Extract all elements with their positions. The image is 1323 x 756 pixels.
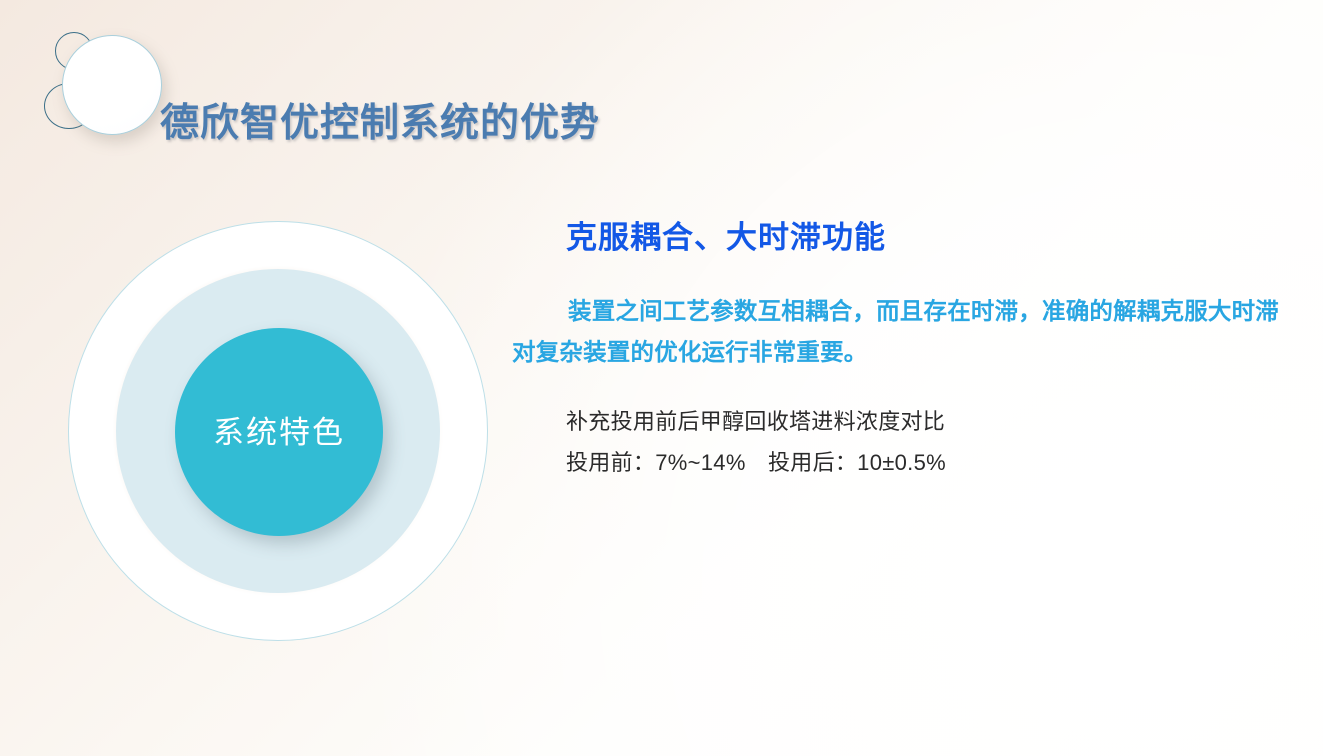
content-note: 补充投用前后甲醇回收塔进料浓度对比 投用前：7%~14% 投用后：10±0.5% [566, 402, 1302, 484]
content-block: 克服耦合、大时滞功能 装置之间工艺参数互相耦合，而且存在时滞，准确的解耦克服大时… [512, 218, 1302, 484]
feature-circle-label: 系统特色 [213, 417, 345, 448]
note-line-values: 投用前：7%~14% 投用后：10±0.5% [566, 443, 1302, 484]
feature-circle-graphic: 系统特色 [68, 221, 488, 641]
circle-badge-icon [62, 35, 162, 135]
page-title: 德欣智优控制系统的优势 [160, 92, 600, 148]
slide-canvas: 德欣智优控制系统的优势 系统特色 克服耦合、大时滞功能 装置之间工艺参数互相耦合… [0, 0, 1323, 756]
content-heading: 克服耦合、大时滞功能 [566, 218, 1302, 258]
note-line-comparison: 补充投用前后甲醇回收塔进料浓度对比 [566, 402, 1302, 443]
header-badge-decoration [38, 26, 170, 152]
content-paragraph: 装置之间工艺参数互相耦合，而且存在时滞，准确的解耦克服大时滞对复杂装置的优化运行… [512, 291, 1302, 372]
feature-circle-core: 系统特色 [175, 328, 383, 536]
